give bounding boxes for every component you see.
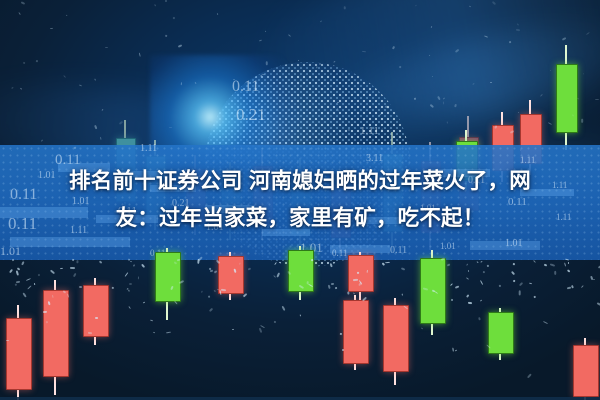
candle-body <box>343 300 369 364</box>
particle <box>442 101 444 104</box>
candlestick <box>155 248 179 320</box>
candlestick <box>420 250 444 335</box>
particle <box>130 261 132 263</box>
candle-body <box>43 290 69 377</box>
candle-body <box>556 64 578 133</box>
particle <box>111 287 114 289</box>
particle <box>94 78 96 80</box>
candlestick <box>43 280 67 395</box>
particle <box>330 283 334 285</box>
candle-body <box>383 305 409 372</box>
candlestick <box>343 295 367 370</box>
candlestick <box>488 308 512 360</box>
candle-body <box>573 345 599 397</box>
particle <box>353 278 358 280</box>
candlestick <box>6 305 30 400</box>
candlestick <box>218 252 242 300</box>
particle <box>568 262 569 264</box>
particle <box>72 258 75 261</box>
particle <box>344 7 346 10</box>
particle <box>128 289 129 291</box>
candlestick <box>288 246 312 300</box>
candle-body <box>83 285 109 337</box>
band-bar <box>10 237 130 247</box>
particle <box>342 349 344 351</box>
particle <box>518 290 520 295</box>
headline: 排名前十证券公司 河南媳妇晒的过年菜火了，网 友：过年当家菜，家里有矿，吃不起！ <box>0 163 600 237</box>
particle <box>307 281 309 284</box>
particle <box>52 294 54 298</box>
candle-body <box>488 312 514 354</box>
particle <box>347 292 349 295</box>
particle <box>447 263 450 266</box>
band-bar <box>470 241 540 250</box>
particle <box>43 311 47 313</box>
candlestick <box>556 45 576 150</box>
candlestick <box>83 278 107 345</box>
particle <box>95 317 98 319</box>
particle <box>253 88 255 90</box>
banner-image: 0.111.110.210.111.111.110.111.011.010.11… <box>0 0 600 400</box>
particle <box>70 267 75 269</box>
headline-line-1: 排名前十证券公司 河南媳妇晒的过年菜火了，网 <box>69 169 531 193</box>
particle <box>76 261 78 264</box>
particle <box>583 73 584 75</box>
candle-body <box>6 318 32 390</box>
candle-body <box>348 255 374 292</box>
candlestick <box>573 338 597 400</box>
particle <box>23 61 25 63</box>
candlestick <box>348 252 372 300</box>
headline-line-2: 友：过年当家菜，家里有矿，吃不起！ <box>116 206 485 230</box>
candlestick <box>383 298 407 385</box>
